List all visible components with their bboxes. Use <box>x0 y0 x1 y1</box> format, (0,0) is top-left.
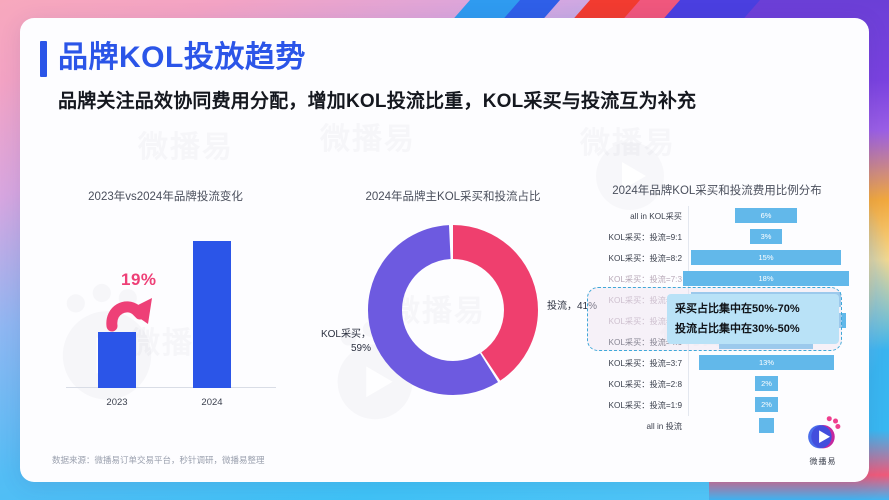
brand-logo-text: 微播易 <box>795 456 851 467</box>
funnel-row-label: KOL采买：投流=7:3 <box>590 273 682 285</box>
funnel-row-label: all in KOL采买 <box>590 210 682 222</box>
donut-chart-title: 2024年品牌主KOL采买和投流占比 <box>308 188 598 204</box>
funnel-row-label: KOL采买：投流=1:9 <box>590 399 682 411</box>
funnel-row[interactable]: KOL采买：投流=9:1 3% <box>595 227 857 248</box>
bar-2023[interactable] <box>98 332 136 388</box>
page-title: 品牌KOL投放趋势 <box>58 38 306 78</box>
funnel-row-bar: 18% <box>683 271 849 286</box>
donut-label-kol-caimai: KOL采买，59% <box>301 328 371 356</box>
funnel-row[interactable]: KOL采买：投流=7:3 18% <box>595 269 857 290</box>
funnel-row[interactable]: KOL采买：投流=2:8 2% <box>595 374 857 395</box>
bar-label-2023: 2023 <box>87 397 147 408</box>
funnel-row-label: KOL采买：投流=8:2 <box>590 252 682 264</box>
callout-box: 采买占比集中在50%-70% 投流占比集中在30%-50% <box>667 294 839 344</box>
header: 品牌KOL投放趋势 品牌关注品效协同费用分配，增加KOL投流比重，KOL采买与投… <box>20 18 869 128</box>
funnel-row-label: KOL采买：投流=3:7 <box>590 357 682 369</box>
funnel-chart-plot: all in KOL采买 6% KOL采买：投流=9:1 3% KOL采买：投流… <box>595 206 857 416</box>
funnel-row-bar: 13% <box>699 355 834 370</box>
funnel-row-bar: 3% <box>750 229 782 244</box>
bar-label-2024: 2024 <box>182 397 242 408</box>
donut-chart-plot: KOL采买，59% 投流，41% <box>363 220 543 400</box>
funnel-row-bar: 2% <box>755 376 778 391</box>
source-note: 数据来源：微播易订单交易平台，秒针调研，微播易整理 <box>52 454 265 466</box>
funnel-row[interactable]: all in KOL采买 6% <box>595 206 857 227</box>
chart-panel-funnel: 2024年品牌KOL采买和投流费用比例分布 all in KOL采买 6% KO… <box>595 168 857 438</box>
funnel-row-bar: 2% <box>755 397 778 412</box>
slide-root: 微播易 微播易 微播易 微播易 微播易 微播易 品牌KOL投放趋势 品牌 <box>0 0 889 500</box>
funnel-row[interactable]: KOL采买：投流=8:2 15% <box>595 248 857 269</box>
bar-chart-plot: 2023 2024 19% <box>66 220 276 410</box>
callout-line-1: 采买占比集中在50%-70% <box>675 299 833 319</box>
bar-chart-title: 2023年vs2024年品牌投流变化 <box>38 188 293 204</box>
funnel-row-bar: 15% <box>691 250 841 265</box>
page-subtitle: 品牌关注品效协同费用分配，增加KOL投流比重，KOL采买与投流互为补充 <box>58 86 696 113</box>
brand-logo[interactable]: 微播易 <box>795 414 851 470</box>
funnel-row-bar <box>759 418 774 433</box>
funnel-row-label: all in 投流 <box>590 420 682 432</box>
funnel-row[interactable]: KOL采买：投流=1:9 2% <box>595 395 857 416</box>
funnel-chart-title: 2024年品牌KOL采买和投流费用比例分布 <box>577 182 857 198</box>
watermark-text: 微播易 <box>138 122 234 166</box>
growth-annotation-label: 19% <box>121 270 157 290</box>
main-card: 微播易 微播易 微播易 微播易 微播易 微播易 品牌KOL投放趋势 品牌 <box>20 18 869 482</box>
bar-2024[interactable] <box>193 241 231 388</box>
curved-up-arrow-icon <box>106 292 158 336</box>
funnel-row-bar: 6% <box>735 208 797 223</box>
title-accent-bar <box>40 41 47 77</box>
funnel-row-label: KOL采买：投流=9:1 <box>590 231 682 243</box>
funnel-row[interactable]: KOL采买：投流=3:7 13% <box>595 353 857 374</box>
chart-panel-bar: 2023年vs2024年品牌投流变化 2023 2024 19% <box>38 168 293 438</box>
play-triangle-icon <box>803 414 843 450</box>
callout-line-2: 投流占比集中在30%-50% <box>675 319 833 339</box>
chart-panel-donut: 2024年品牌主KOL采买和投流占比 KOL采买，59% 投流，41% <box>308 168 598 438</box>
funnel-row-label: KOL采买：投流=2:8 <box>590 378 682 390</box>
